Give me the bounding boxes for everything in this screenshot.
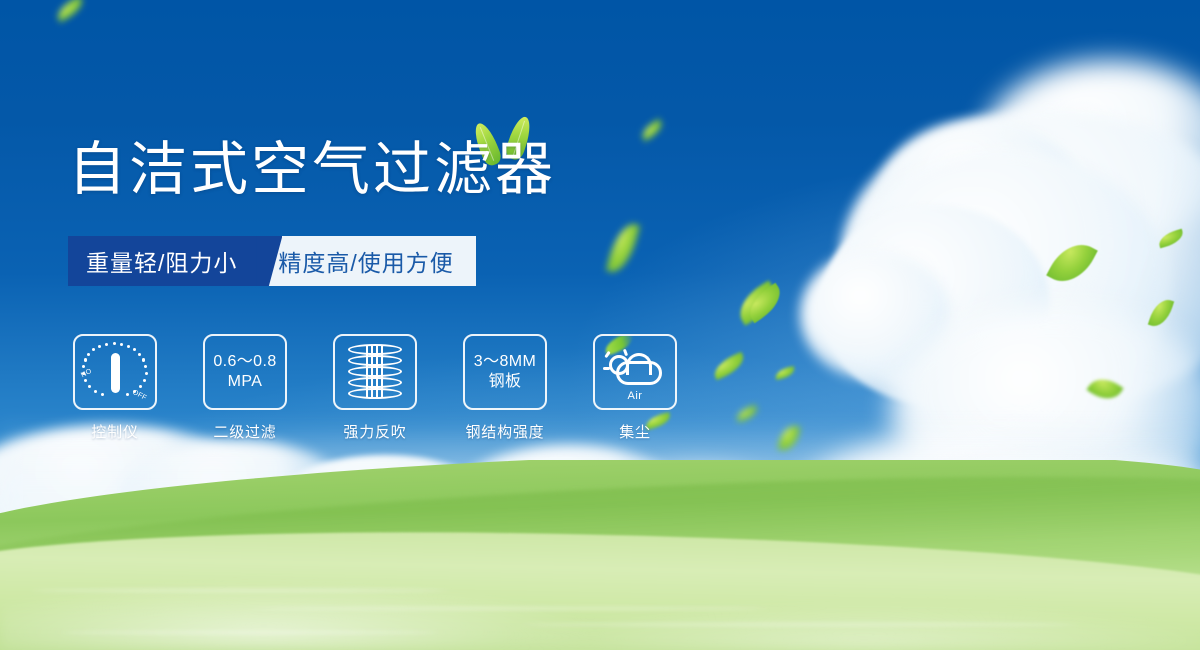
steel-value-line1: 3〜8MM [474,352,536,372]
steel-plate-text-icon: 3〜8MM 钢板 [474,352,536,392]
feature-icon-box: Air [593,334,677,410]
feature-caption: 集尘 [619,421,651,442]
grass-field [0,460,1200,650]
feature-caption: 控制仪 [91,421,138,442]
filter-coil-icon [348,344,402,400]
subtitle-bar: 重量轻/阻力小 精度高/使用方便 [68,236,476,286]
feature-icon-box: NO OFF [73,334,157,410]
subtitle-badge-primary: 重量轻/阻力小 [68,236,257,286]
feature-caption: 强力反吹 [343,421,406,442]
steel-value-line2: 钢板 [474,372,536,392]
feature-caption: 钢结构强度 [465,421,544,442]
cloud-top-icon [626,353,652,375]
control-dial-icon: NO OFF [82,341,148,403]
pressure-value-line2: MPA [213,372,276,392]
grass-streak [60,631,440,634]
feature-list: NO OFF 控制仪 0.6〜0.8 MPA 二级过滤 [72,334,678,442]
pressure-value-line1: 0.6〜0.8 [213,352,276,372]
feature-icon-box: 0.6〜0.8 MPA [203,334,287,410]
grass-streak [250,607,770,610]
subtitle-badge-secondary: 精度高/使用方便 [268,236,475,286]
feature-item: 3〜8MM 钢板 钢结构强度 [462,334,548,442]
dial-pointer [111,353,120,393]
feature-item: 0.6〜0.8 MPA 二级过滤 [202,334,288,442]
page-title: 自洁式空气过滤器 [68,141,556,199]
feature-item: NO OFF 控制仪 [72,334,158,442]
feature-icon-box [333,334,417,410]
feature-caption: 二级过滤 [213,421,276,442]
grass-streak [30,589,450,592]
cloud-air-icon: Air [602,341,668,403]
feature-icon-box: 3〜8MM 钢板 [463,334,547,410]
pressure-text-icon: 0.6〜0.8 MPA [213,352,276,392]
feature-item: Air 集尘 [592,334,678,442]
air-label: Air [602,390,668,402]
grass-streak [520,623,1080,626]
feature-item: 强力反吹 [332,334,418,442]
product-hero-banner: 自洁式空气过滤器 重量轻/阻力小 精度高/使用方便 [0,0,1200,650]
